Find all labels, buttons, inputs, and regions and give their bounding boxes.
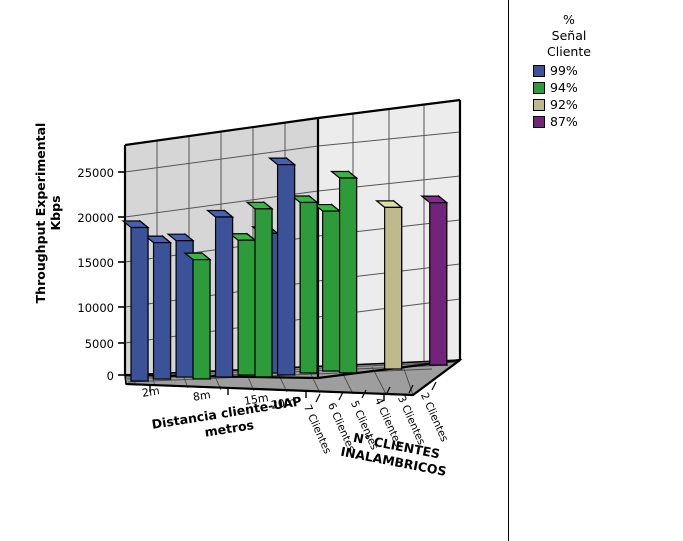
- legend-entry[interactable]: 99%: [533, 63, 578, 78]
- legend-title-line-3: Cliente: [509, 44, 629, 60]
- legend-title-line-1: %: [509, 12, 629, 28]
- legend-items: 99%94%92%87%: [533, 63, 578, 131]
- x-tick-label: 8m: [192, 388, 212, 404]
- chart-container: Throughput Experimental Kbps 25000 20000…: [0, 0, 508, 541]
- legend-swatch-icon: [533, 116, 545, 128]
- legend-entry-label: 99%: [550, 65, 578, 77]
- legend-title: % Señal Cliente: [509, 12, 629, 60]
- legend-entry[interactable]: 94%: [533, 80, 578, 95]
- legend-swatch-icon: [533, 99, 545, 111]
- legend-entry-label: 92%: [550, 99, 578, 111]
- x-tick-label: 2m: [141, 384, 161, 400]
- legend-entry-label: 94%: [550, 82, 578, 94]
- legend-panel: % Señal Cliente 99%94%92%87%: [508, 0, 683, 541]
- legend-entry[interactable]: 87%: [533, 114, 578, 129]
- legend-entry[interactable]: 92%: [533, 97, 578, 112]
- legend-title-line-2: Señal: [509, 28, 629, 44]
- legend-entry-label: 87%: [550, 116, 578, 128]
- legend-swatch-icon: [533, 82, 545, 94]
- legend-swatch-icon: [533, 65, 545, 77]
